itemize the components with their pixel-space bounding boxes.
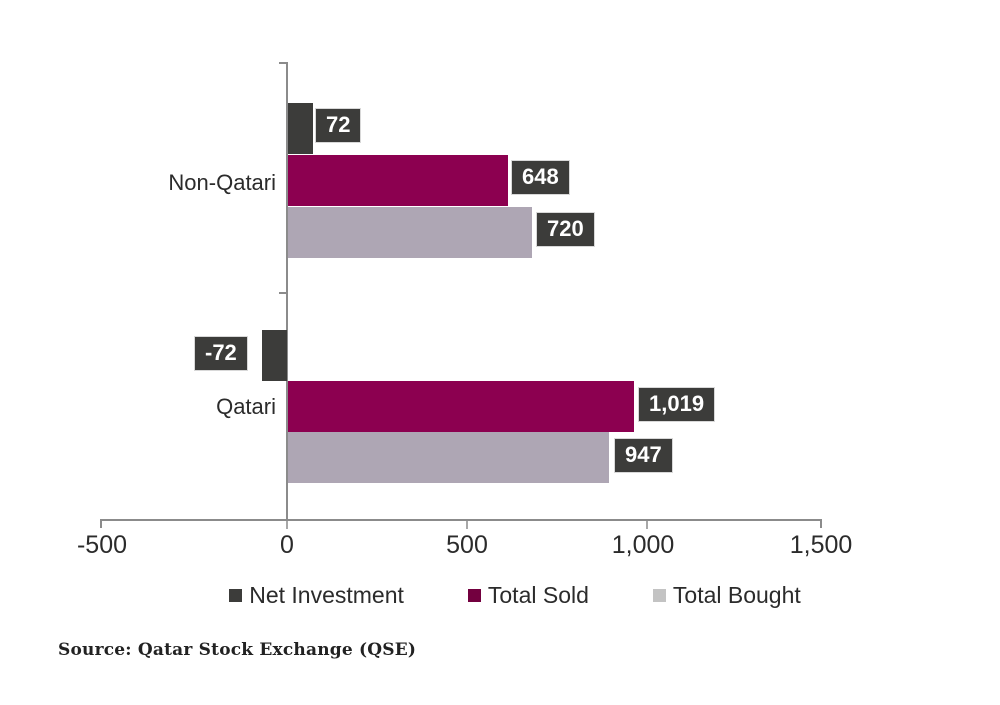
- x-axis-label-0: 0: [227, 531, 347, 560]
- data-label-non-qatari-net-investment: 72: [315, 108, 361, 143]
- bar-qatari-total-sold: [288, 381, 634, 432]
- data-label-non-qatari-total-bought: 720: [536, 212, 595, 247]
- bar-non-qatari-net-investment: [288, 103, 313, 154]
- legend-swatch-icon-total-bought: [653, 589, 666, 602]
- chart-container: -500 0 500 1,000 1,500 72 648 720 Non-Qa…: [0, 0, 1000, 705]
- chart-legend: Net Investment Total Sold Total Bought: [0, 578, 1000, 612]
- plot-area: -500 0 500 1,000 1,500 72 648 720 Non-Qa…: [0, 0, 1000, 705]
- data-label-qatari-net-investment: -72: [194, 336, 248, 371]
- x-axis-tick-0: [286, 521, 288, 529]
- category-label-non-qatari: Non-Qatari: [106, 170, 276, 196]
- category-label-qatari: Qatari: [106, 394, 276, 420]
- legend-swatch-icon-net-investment: [229, 589, 242, 602]
- x-axis-label-minus500: -500: [42, 531, 162, 560]
- data-label-non-qatari-total-sold: 648: [511, 160, 570, 195]
- legend-item-total-bought[interactable]: Total Bought: [653, 582, 801, 609]
- x-axis-tick-1000: [646, 521, 648, 529]
- source-note: Source: Qatar Stock Exchange (QSE): [58, 640, 416, 660]
- legend-label-total-bought: Total Bought: [673, 582, 801, 609]
- bar-non-qatari-total-sold: [288, 155, 508, 206]
- data-label-qatari-total-sold: 1,019: [638, 387, 715, 422]
- x-axis-left-cap: [100, 519, 102, 528]
- category-axis-tick-middle: [279, 292, 286, 294]
- x-axis-label-500: 500: [407, 531, 527, 560]
- bar-non-qatari-total-bought: [288, 207, 532, 258]
- x-axis-label-1000: 1,000: [583, 531, 703, 560]
- bar-qatari-net-investment: [262, 330, 287, 381]
- bar-qatari-total-bought: [288, 432, 609, 483]
- data-label-qatari-total-bought: 947: [614, 438, 673, 473]
- legend-item-net-investment[interactable]: Net Investment: [229, 582, 404, 609]
- category-axis-tick-top: [279, 62, 286, 64]
- legend-swatch-icon-total-sold: [468, 589, 481, 602]
- legend-item-total-sold[interactable]: Total Sold: [468, 582, 589, 609]
- x-axis-right-cap: [820, 519, 822, 528]
- legend-label-net-investment: Net Investment: [249, 582, 404, 609]
- x-axis-line: [100, 519, 822, 521]
- x-axis-label-1500: 1,500: [761, 531, 881, 560]
- legend-label-total-sold: Total Sold: [488, 582, 589, 609]
- x-axis-tick-500: [466, 521, 468, 529]
